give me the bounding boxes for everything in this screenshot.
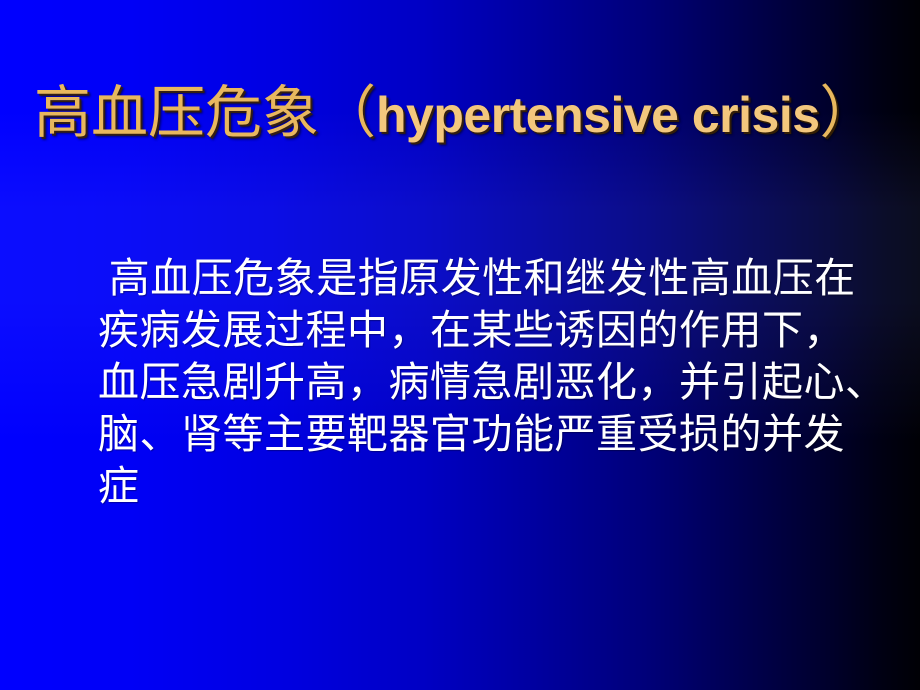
slide-body: 高血压危象是指原发性和继发性高血压在 疾病发展过程中，在某些诱因的作用下， 血压… — [98, 252, 898, 512]
slide-title-cjk: 高血压危象 — [34, 82, 319, 145]
slide-title-english: hypertensive crisis — [376, 87, 820, 143]
slide-title-paren-close: ） — [820, 82, 877, 145]
slide-title-line: 高血压危象（hypertensive crisis） — [34, 82, 914, 147]
slide-canvas: 高血压危象（hypertensive crisis） 高血压危象是指原发性和继发… — [0, 0, 920, 690]
body-line: 血压急剧升高，病情急剧恶化，并引起心、 — [98, 356, 898, 408]
slide-title-paren-open: （ — [319, 82, 376, 145]
body-line: 高血压危象是指原发性和继发性高血压在 — [98, 252, 898, 304]
body-line: 症 — [98, 460, 898, 512]
slide-title: 高血压危象（hypertensive crisis） — [34, 82, 914, 147]
body-line: 疾病发展过程中，在某些诱因的作用下， — [98, 304, 898, 356]
body-line: 脑、肾等主要靶器官功能严重受损的并发 — [98, 408, 898, 460]
